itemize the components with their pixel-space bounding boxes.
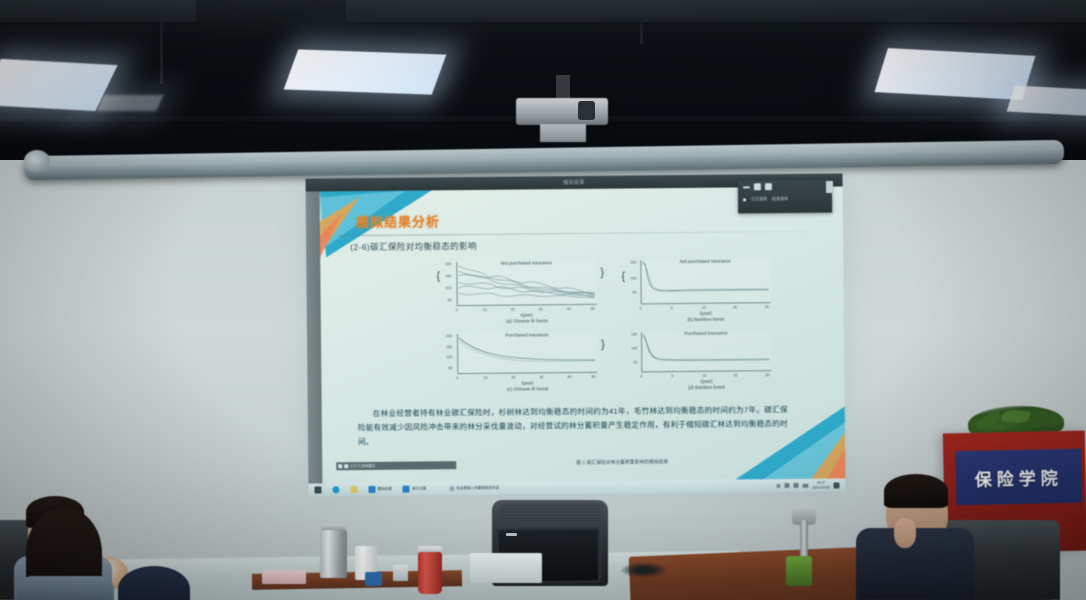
presentation-status-dot xyxy=(743,198,746,201)
edge-browser-icon[interactable] xyxy=(332,486,339,493)
volume-icon[interactable] xyxy=(793,483,798,488)
chart-a-xtick-50: 50 xyxy=(591,307,595,311)
podium-nameplate: 保险学院 xyxy=(955,449,1082,506)
chart-b-xtick-10: 10 xyxy=(702,306,706,310)
chart-c-ytick-150: 150 xyxy=(446,345,452,349)
battery-icon[interactable] xyxy=(802,483,808,487)
slideshow-strip-icon-1[interactable] xyxy=(338,464,342,468)
chart-d-xtick-20: 20 xyxy=(765,373,769,377)
attendee-right-man-hair xyxy=(884,474,948,508)
ceiling-air-vent xyxy=(196,0,346,36)
chart-a-ytick-200: 200 xyxy=(445,262,451,266)
powerpoint-title-text: 模拟结果 xyxy=(563,179,585,186)
chart-b-ylabel-brace: { xyxy=(621,273,625,282)
chart-d-ytick-150: 150 xyxy=(631,332,637,336)
clock-date: 2024/10/25 xyxy=(812,485,829,489)
chart-b-xtick-5: 5 xyxy=(671,306,673,310)
chart-d-xtick-15: 15 xyxy=(733,373,737,377)
chart-c-xtick-10: 10 xyxy=(483,376,487,380)
slideshow-status-label: 幻灯片放映模式 xyxy=(350,463,375,468)
chart-a-chinese-fir-not-insured: Not purchased insurance 200 150 xyxy=(456,261,596,306)
chart-a-xtick-20: 20 xyxy=(511,308,515,312)
chart-d-xtick-10: 10 xyxy=(702,374,706,378)
chart-c-chinese-fir-insured: Purchased insurance 200 150 100 50 0 10 … xyxy=(457,333,597,374)
laptop-logo xyxy=(506,533,517,536)
ceiling-light-3 xyxy=(874,48,1035,100)
chart-b-ytick-100: 100 xyxy=(630,276,636,280)
chart-d-plot xyxy=(641,331,771,372)
slide-title: 模拟结果分析 xyxy=(356,211,440,231)
ceiling-beam-main xyxy=(0,0,1086,24)
chart-b-xtick-20: 20 xyxy=(765,305,769,309)
chart-b-ytick-50: 50 xyxy=(633,290,637,294)
plant-leaf-1 xyxy=(975,411,1004,431)
projector-bracket xyxy=(540,124,586,142)
slide-body-paragraph: 在林业经营者持有林业碳汇保险时，杉树林达到均衡稳态的时间约为41年，毛竹林达到均… xyxy=(358,403,788,449)
chart-c-xtick-50: 50 xyxy=(591,375,595,379)
presenter-toolbar-side-chip[interactable] xyxy=(826,181,833,193)
close-icon[interactable] xyxy=(765,183,772,190)
slideshow-status-strip[interactable]: 幻灯片放映模式 xyxy=(336,461,456,470)
projection-screen: 模拟结果 模拟结果分析 xyxy=(305,173,845,496)
attendee-right-man-hand xyxy=(894,518,916,548)
chart-a-xtick-0: 0 xyxy=(456,308,458,312)
chart-c-xtick-20: 20 xyxy=(511,376,515,380)
chart-a-ytick-150: 150 xyxy=(445,274,451,278)
taskbar-search-placeholder: 在这里输入你要搜索的内容 xyxy=(456,486,499,491)
attendee-left-woman-torso xyxy=(18,576,114,600)
notification-center-icon[interactable] xyxy=(833,482,839,488)
chart-a-ytick-100: 100 xyxy=(446,286,452,290)
chart-a-xtick-30: 30 xyxy=(539,307,543,311)
taskbar-spacer xyxy=(510,486,765,488)
taskbar-clock[interactable]: 16:47 2024/10/25 xyxy=(812,481,829,490)
chart-c-xtick-40: 40 xyxy=(567,375,571,379)
chart-d-bamboo-insured: Purchased insurance 150 100 50 0 5 10 15… xyxy=(641,331,771,372)
blue-bottle-cap xyxy=(365,572,382,586)
restore-icon[interactable] xyxy=(754,183,761,190)
chart-d-panel-label: (d) Bamboo forest xyxy=(641,384,771,390)
chart-d-xtick-5: 5 xyxy=(671,374,673,378)
system-tray[interactable]: 16:47 2024/10/25 xyxy=(776,481,839,490)
ceiling-light-4 xyxy=(1007,86,1086,117)
chart-d-xtick-0: 0 xyxy=(640,374,642,378)
chart-a-right-brace: } xyxy=(600,269,604,278)
chart-b-bamboo-not-insured: Not purchased insurance 150 100 50 { 0 5… xyxy=(640,259,770,304)
chart-a-ytick-50: 50 xyxy=(448,298,452,302)
taskbar-item-label-1: 模拟结果 xyxy=(377,487,391,492)
chart-a-xtick-10: 10 xyxy=(483,308,487,312)
green-device xyxy=(786,556,812,586)
figure-panel-group: Not purchased insurance 200 150 xyxy=(432,255,809,387)
tissue-box xyxy=(262,570,306,584)
chart-c-panel-label: (c) Chinese fir forest xyxy=(457,386,597,392)
document-tray xyxy=(470,553,542,583)
ceiling-light-2 xyxy=(284,49,447,94)
chart-a-panel-label: (a) Chinese fir forest xyxy=(457,318,597,324)
cable-bundle xyxy=(620,562,668,578)
search-icon xyxy=(449,486,454,491)
taskbar-search-box[interactable]: 在这里输入你要搜索的内容 xyxy=(449,486,499,491)
projector-lens xyxy=(578,101,595,120)
small-white-box xyxy=(393,565,408,581)
ceiling-light-5 xyxy=(96,95,163,111)
chart-c-plot xyxy=(457,333,597,374)
taskbar-item-label-2: 演示文稿 xyxy=(412,486,426,491)
ceiling-cable-right xyxy=(640,18,643,44)
thermos-flask xyxy=(320,530,347,578)
slide-subtitle: (2-6)碳汇保险对均衡稳态的影响 xyxy=(350,240,477,253)
chart-b-xtick-15: 15 xyxy=(733,305,737,309)
ceiling-cable-left xyxy=(160,22,163,84)
minimize-icon[interactable] xyxy=(743,186,750,188)
chart-c-right-brace: } xyxy=(601,341,605,350)
red-travel-cup xyxy=(418,552,442,594)
chart-d-ytick-50: 50 xyxy=(633,360,637,364)
chart-a-plot xyxy=(456,261,596,306)
conference-room-scene: 模拟结果 模拟结果分析 xyxy=(0,0,1086,600)
slideshow-strip-icon-2[interactable] xyxy=(344,464,348,468)
chart-c-xtick-30: 30 xyxy=(539,375,543,379)
taskbar-item-powerpoint-2[interactable]: 演示文稿 xyxy=(403,485,426,492)
taskbar-item-powerpoint-1[interactable]: 模拟结果 xyxy=(368,486,391,493)
powerpoint-icon-1 xyxy=(368,486,375,493)
chart-c-ytick-100: 100 xyxy=(446,355,452,359)
floating-toolbar-label-left: 正在放映 xyxy=(751,196,767,202)
floating-toolbar-icon-row[interactable] xyxy=(743,183,827,191)
chart-c-ytick-50: 50 xyxy=(448,366,452,370)
powerpoint-icon-2 xyxy=(403,486,410,493)
slide-canvas: 模拟结果分析 (2-6)碳汇保险对均衡稳态的影响 Not purchased i… xyxy=(320,186,846,483)
file-explorer-icon[interactable] xyxy=(350,486,357,493)
chart-a-ylabel-brace: { xyxy=(436,272,440,281)
chart-b-panel-label: (b) Bamboo forest xyxy=(641,316,771,322)
network-icon[interactable] xyxy=(784,483,789,488)
floating-toolbar-label-row[interactable]: 正在放映 结束放映 xyxy=(743,196,827,203)
floating-toolbar-label-right: 结束放映 xyxy=(772,196,788,202)
start-button-icon[interactable] xyxy=(314,486,321,493)
chart-c-xtick-0: 0 xyxy=(456,376,458,380)
chevron-up-icon[interactable] xyxy=(776,484,780,488)
podium-nameplate-text: 保险学院 xyxy=(974,464,1063,491)
chart-b-xtick-0: 0 xyxy=(640,306,642,310)
chart-b-ytick-150: 150 xyxy=(630,260,636,264)
chart-b-plot xyxy=(640,259,770,304)
chart-a-xtick-40: 40 xyxy=(567,307,571,311)
chart-c-ytick-200: 200 xyxy=(446,334,452,338)
presenter-floating-toolbar[interactable]: 正在放映 结束放映 xyxy=(738,180,832,214)
chart-d-ytick-100: 100 xyxy=(631,346,637,350)
